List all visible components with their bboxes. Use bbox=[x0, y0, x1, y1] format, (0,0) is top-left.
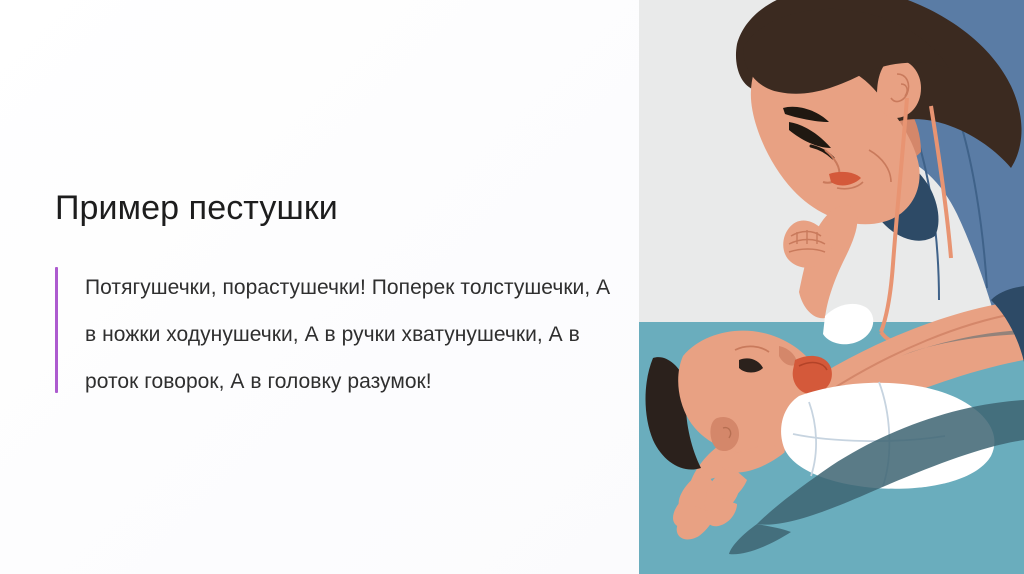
quote-text: Потягушечки, порастушечки! Поперек толст… bbox=[55, 264, 615, 405]
text-panel: Пример пестушки Потягушечки, порастушечк… bbox=[0, 0, 640, 574]
accent-bar bbox=[55, 267, 58, 393]
mother-and-baby-illustration bbox=[639, 0, 1024, 574]
slide-canvas: Пример пестушки Потягушечки, порастушечк… bbox=[0, 0, 1024, 574]
page-title: Пример пестушки bbox=[55, 188, 338, 228]
babys-ear bbox=[710, 417, 739, 451]
quote-block: Потягушечки, порастушечки! Поперек толст… bbox=[55, 264, 615, 405]
illustration-svg bbox=[639, 0, 1024, 574]
